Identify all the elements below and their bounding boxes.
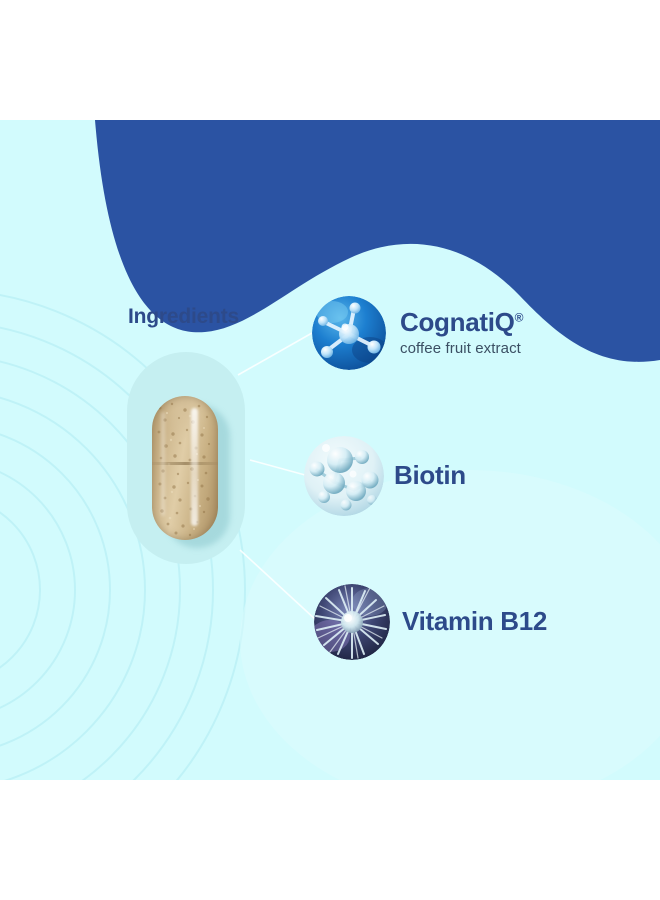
- ingredient-item-biotin[interactable]: Biotin: [304, 436, 466, 516]
- ingredient-text-cognatiq: CognatiQ® coffee fruit extract: [400, 309, 523, 356]
- registered-trademark-symbol: ®: [515, 311, 524, 325]
- crystal-starburst-icon: [314, 584, 390, 660]
- capsule-highlight-secondary: [161, 412, 165, 516]
- ingredient-name: CognatiQ®: [400, 309, 523, 336]
- ingredient-name: Biotin: [394, 462, 466, 489]
- ingredient-text-vitamin-b12: Vitamin B12: [402, 608, 547, 635]
- product-ingredients-graphic: Ingredients: [0, 0, 660, 900]
- capsule-body: [152, 396, 218, 540]
- ingredient-name: Vitamin B12: [402, 608, 547, 635]
- ingredient-text-biotin: Biotin: [394, 462, 466, 489]
- capsule-highlight: [191, 408, 198, 526]
- page-title: Ingredients: [128, 305, 239, 329]
- blue-molecule-icon: [312, 296, 386, 370]
- ingredient-subtitle: coffee fruit extract: [400, 340, 523, 357]
- ingredient-item-vitamin-b12[interactable]: Vitamin B12: [314, 584, 547, 660]
- capsule-pill-image: [152, 396, 218, 540]
- water-molecule-bubbles-icon: [304, 436, 384, 516]
- ingredient-item-cognatiq[interactable]: CognatiQ® coffee fruit extract: [312, 296, 523, 370]
